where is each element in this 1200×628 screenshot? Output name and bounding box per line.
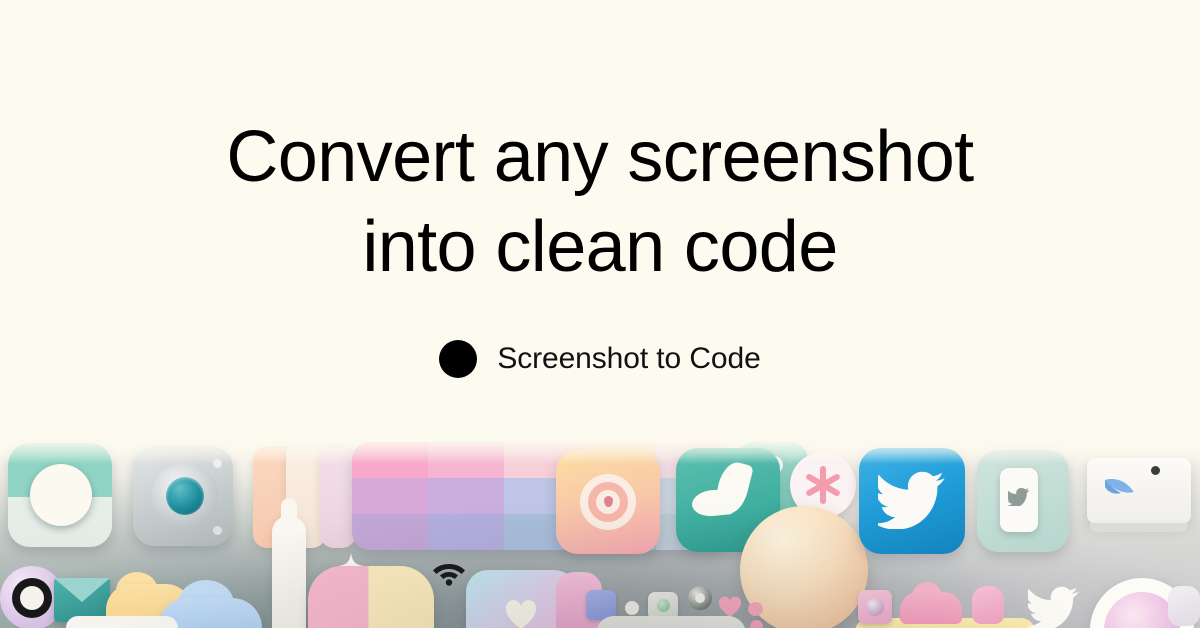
pink-app-lens-icon [866, 598, 884, 616]
og-card: Convert any screenshot into clean code S… [0, 0, 1200, 628]
swatch-grid [352, 442, 732, 550]
blue-bird-icon [1103, 474, 1137, 502]
camera-dot-icon [213, 526, 222, 535]
headline-line-2: into clean code [120, 202, 1080, 292]
pink-bar [320, 444, 356, 548]
pink-heart-icon [718, 596, 742, 618]
black-circle-icon [439, 340, 477, 378]
pink-bead-icon [748, 602, 763, 616]
bird-glyph-icon [1008, 488, 1030, 506]
flower-icon [802, 464, 844, 506]
wifi-icon [432, 560, 466, 586]
brand-row: Screenshot to Code [439, 340, 760, 378]
white-plate-shape [66, 616, 178, 628]
camera-lens-icon [166, 477, 204, 515]
twitter-bird-icon [878, 471, 946, 529]
card-base [1090, 523, 1188, 532]
illustration-strip [0, 438, 1200, 628]
lavender-ring-center [20, 586, 44, 610]
grey-dot-icon [625, 601, 639, 615]
pink-badge-icon [972, 586, 1004, 624]
camera-dot-icon [213, 459, 222, 468]
white-pillar-neck [281, 498, 297, 526]
teal-app-circle-icon [30, 464, 92, 526]
headline-line-1: Convert any screenshot [120, 112, 1080, 202]
brand-name: Screenshot to Code [497, 342, 760, 376]
pink-bead-icon [750, 620, 763, 628]
green-lens-icon [657, 599, 670, 612]
split-color-shape [308, 566, 434, 628]
page-title: Convert any screenshot into clean code [120, 112, 1080, 292]
grey-panel-shape [596, 616, 746, 628]
right-small-icon [1168, 586, 1200, 626]
envelope-flap [54, 578, 110, 602]
dark-ring-center [695, 593, 705, 603]
hero-section: Convert any screenshot into clean code S… [0, 0, 1200, 440]
white-bird-icon [1028, 586, 1080, 628]
white-pillar-shape [272, 516, 306, 628]
cloud-icon-pink [900, 592, 962, 624]
heart-icon [505, 600, 537, 628]
card-dot-icon [1151, 466, 1160, 475]
